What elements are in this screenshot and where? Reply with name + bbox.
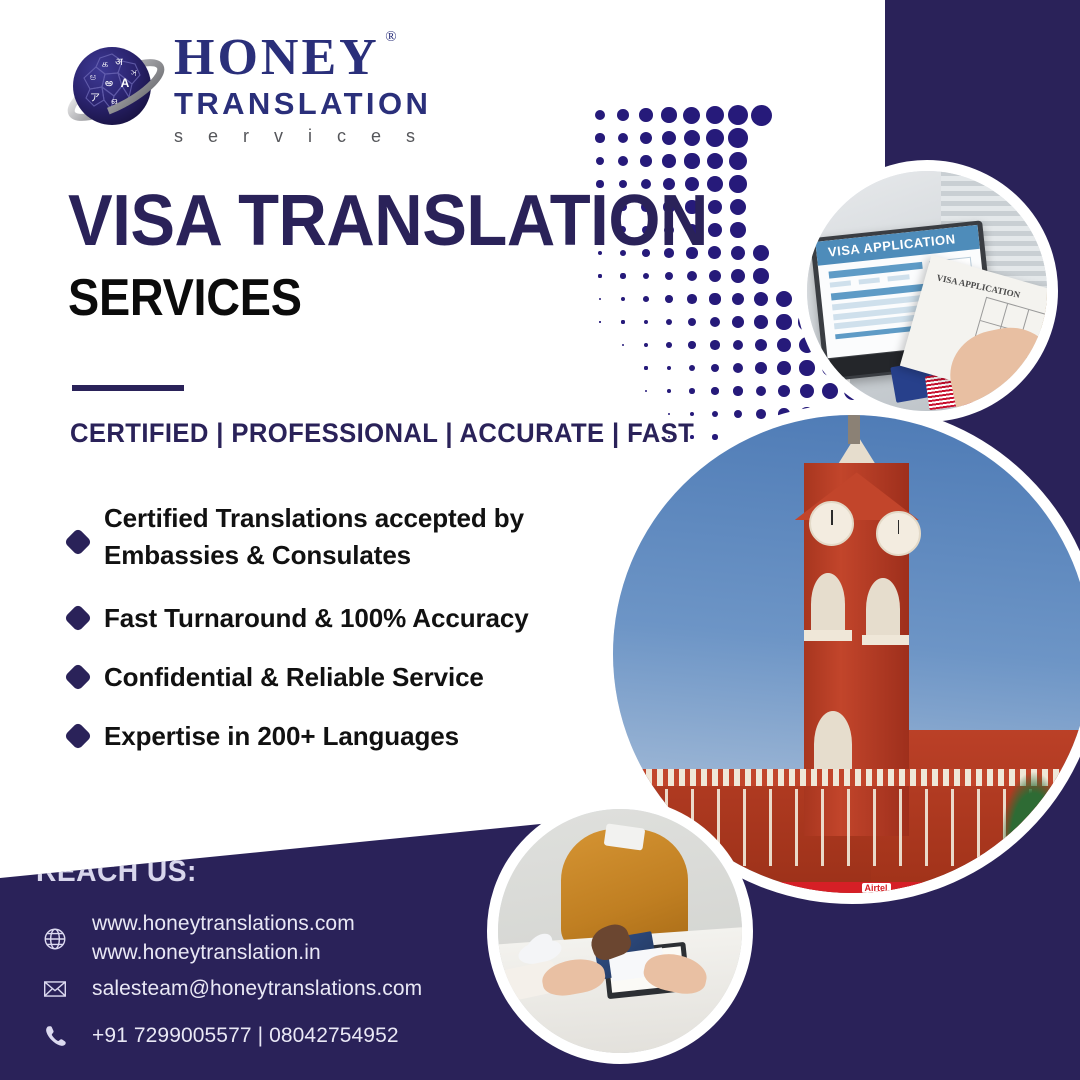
tagline: CERTIFIED | PROFESSIONAL | ACCURATE | FA… [70,418,694,449]
brand-name-primary-text: HONEY [174,29,380,86]
list-item-label: Confidential & Reliable Service [104,659,484,696]
website-text: www.honeytranslations.com www.honeytrans… [92,910,355,968]
brand-logo: க अ স ಅ అ A ア ഒ HONEY® TRANSLATION s e r… [62,28,482,160]
diamond-bullet-icon [64,604,92,632]
diamond-bullet-icon [64,721,92,749]
desk-handover-photo [487,798,753,1064]
benefits-list: Certified Translations accepted by Embas… [68,500,598,777]
svg-text:అ: అ [105,78,113,89]
list-item: Confidential & Reliable Service [68,659,598,696]
contact-phone-row[interactable]: +91 7299005577 | 08042754952 [38,1022,399,1051]
brand-name-tertiary: s e r v i c e s [174,126,431,147]
contact-website-row[interactable]: www.honeytranslations.com www.honeytrans… [38,910,355,968]
list-item-label: Fast Turnaround & 100% Accuracy [104,600,529,637]
list-item: Expertise in 200+ Languages [68,718,598,755]
globe-icon [38,926,72,952]
diamond-bullet-icon [64,528,92,556]
list-item: Fast Turnaround & 100% Accuracy [68,600,598,637]
svg-text:ಅ: ಅ [90,72,97,83]
phone-text: +91 7299005577 | 08042754952 [92,1022,399,1051]
svg-text:স: স [130,68,138,78]
svg-text:ア: ア [90,93,100,104]
contact-email-row[interactable]: salesteam@honeytranslations.com [38,975,422,1004]
svg-text:अ: अ [115,57,123,68]
headline-line-2: SERVICES [68,272,644,324]
email-text: salesteam@honeytranslations.com [92,975,422,1004]
svg-text:A: A [121,76,130,90]
brand-name-primary: HONEY® [174,32,380,84]
brand-name-secondary: TRANSLATION [174,86,431,122]
phone-icon [38,1023,72,1049]
globe-languages-icon: க अ স ಅ అ A ア ഒ [62,34,170,142]
visa-application-photo: VISA APPLICATION PHOTO HERE VISA APPL [796,160,1058,422]
headline-line-1: VISA TRANSLATION [68,188,663,256]
envelope-icon [38,976,72,1002]
brand-wordmark: HONEY® TRANSLATION s e r v i c e s [174,32,431,147]
headline-block: VISA TRANSLATION SERVICES [68,188,708,324]
banner-brand-2: Airtel [862,883,891,893]
list-item-label: Expertise in 200+ Languages [104,718,459,755]
svg-text:க: க [102,59,108,70]
banner-brand-3: Airtel [986,883,1015,893]
list-item: Certified Translations accepted by Embas… [68,500,598,574]
registered-mark: ® [385,30,399,45]
reach-us-title: REACH US: [36,855,197,889]
diamond-bullet-icon [64,663,92,691]
headline-divider-rule [72,385,184,391]
poster-canvas: க अ স ಅ అ A ア ഒ HONEY® TRANSLATION s e r… [0,0,1080,1080]
list-item-label: Certified Translations accepted by Embas… [104,500,598,574]
